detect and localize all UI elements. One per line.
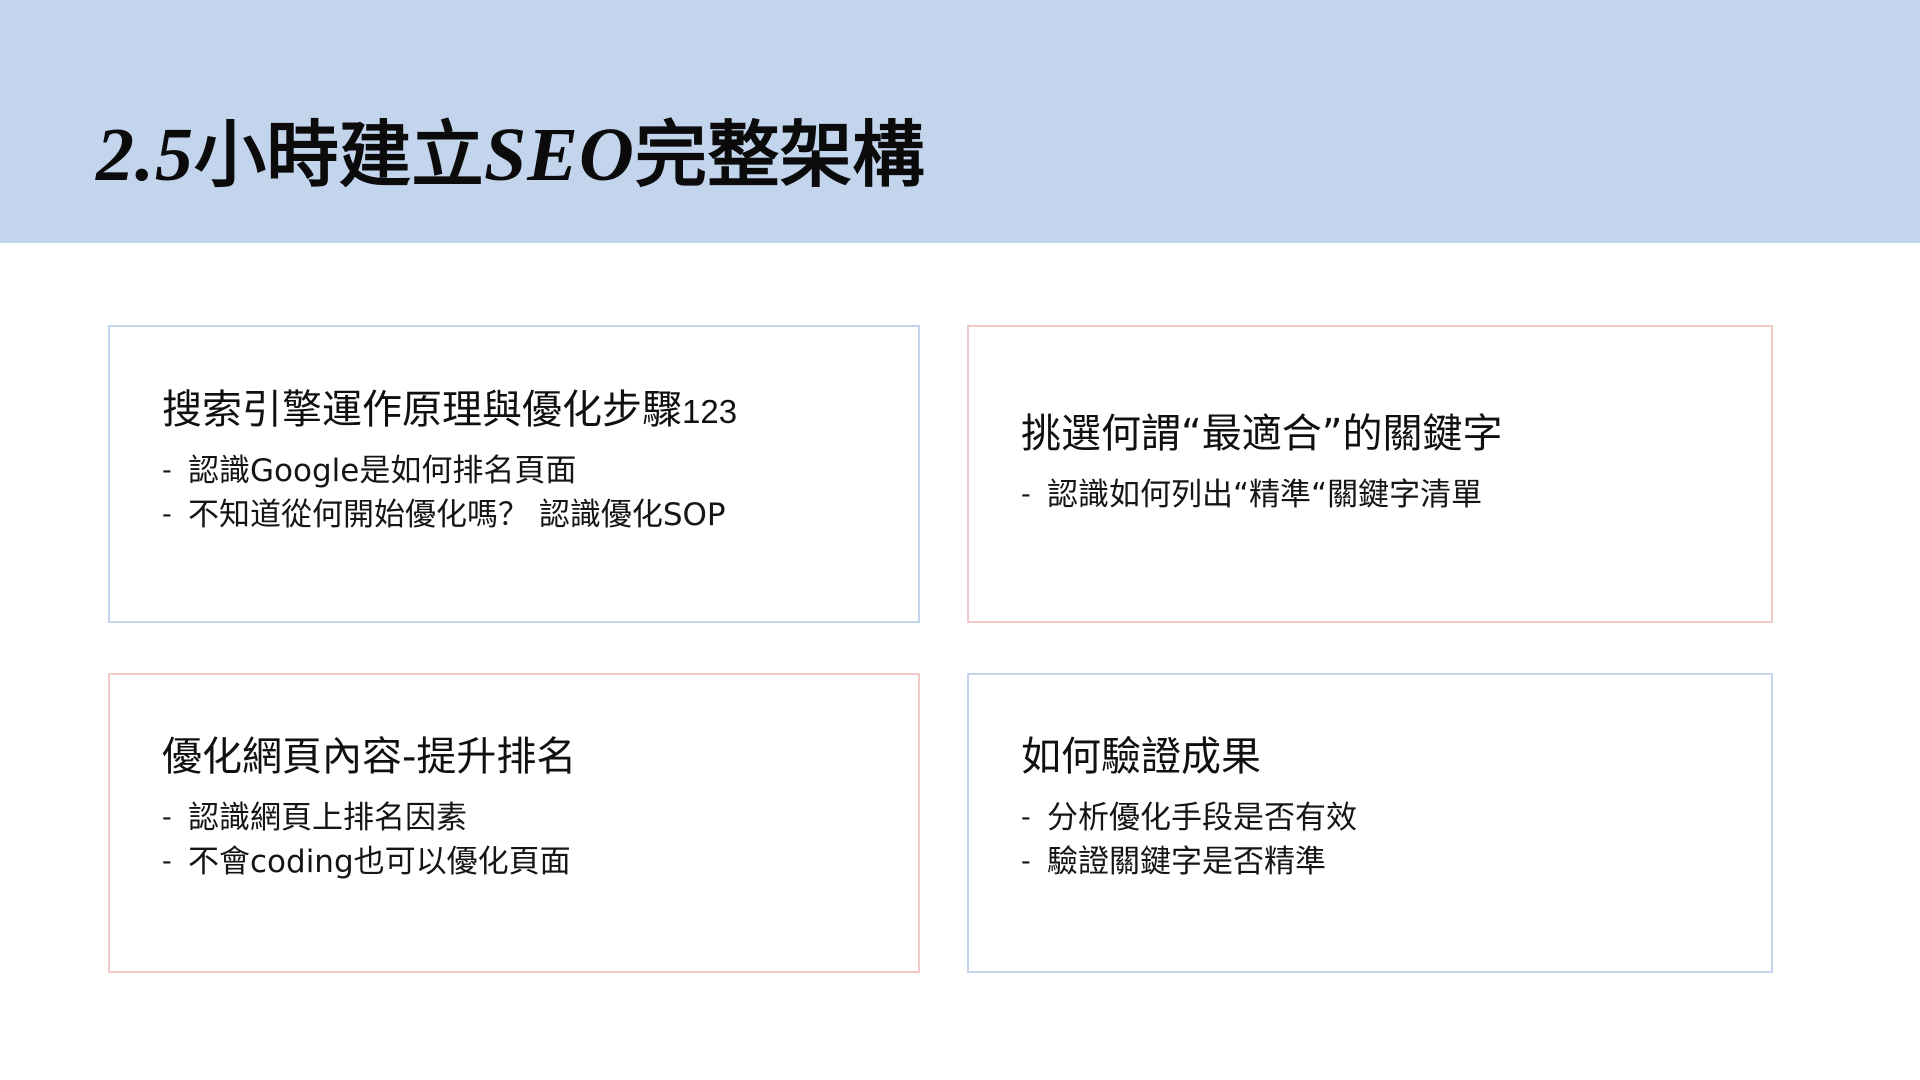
card-grid: 搜索引擎運作原理與優化步驟123 -認識Google是如何排名頁面 -不知道從何… — [0, 0, 1920, 1080]
card-search-engine-principles[interactable]: 搜索引擎運作原理與優化步驟123 -認識Google是如何排名頁面 -不知道從何… — [108, 325, 920, 623]
card-verify-results[interactable]: 如何驗證成果 -分析優化手段是否有效 -驗證關鍵字是否精準 — [967, 673, 1773, 973]
card-optimize-page-content[interactable]: 優化網頁內容-提升排名 -認識網頁上排名因素 -不會coding也可以優化頁面 — [108, 673, 920, 973]
list-item: -驗證關鍵字是否精準 — [1021, 840, 1747, 884]
card-4-bullet-list: -分析優化手段是否有效 -驗證關鍵字是否精準 — [1021, 796, 1747, 884]
bullet-marker-icon: - — [1021, 843, 1047, 881]
card-choose-best-keywords[interactable]: 挑選何謂“最適合”的關鍵字 -認識如何列出“精準“關鍵字清單 — [967, 325, 1773, 623]
card-1-bullet-list: -認識Google是如何排名頁面 -不知道從何開始優化嗎？ 認識優化SOP — [162, 449, 894, 537]
list-item-label: 分析優化手段是否有效 — [1047, 800, 1357, 836]
list-item-label: 認識如何列出“精準“關鍵字清單 — [1047, 477, 1482, 513]
bullet-marker-icon: - — [162, 799, 188, 837]
bullet-marker-icon: - — [162, 452, 188, 490]
card-1-heading-suffix: 123 — [682, 393, 737, 430]
list-item-label: 不會coding也可以優化頁面 — [188, 844, 571, 880]
card-4-heading-text: 如何驗證成果 — [1021, 734, 1261, 780]
list-item-label: 認識網頁上排名因素 — [188, 800, 467, 836]
card-3-heading: 優化網頁內容-提升排名 — [162, 732, 894, 782]
list-item-label: 不知道從何開始優化嗎？ 認識優化SOP — [188, 497, 726, 533]
card-1-heading: 搜索引擎運作原理與優化步驟123 — [162, 385, 894, 435]
card-2-heading: 挑選何謂“最適合”的關鍵字 — [1021, 409, 1747, 459]
list-item: -分析優化手段是否有效 — [1021, 796, 1747, 840]
list-item: -不知道從何開始優化嗎？ 認識優化SOP — [162, 493, 894, 537]
list-item-label: 認識Google是如何排名頁面 — [188, 453, 576, 489]
list-item-label: 驗證關鍵字是否精準 — [1047, 844, 1326, 880]
bullet-marker-icon: - — [1021, 799, 1047, 837]
list-item: -認識如何列出“精準“關鍵字清單 — [1021, 473, 1747, 517]
list-item: -認識網頁上排名因素 — [162, 796, 894, 840]
bullet-marker-icon: - — [1021, 476, 1047, 514]
card-3-bullet-list: -認識網頁上排名因素 -不會coding也可以優化頁面 — [162, 796, 894, 884]
card-1-heading-text: 搜索引擎運作原理與優化步驟 — [162, 387, 682, 433]
card-4-heading: 如何驗證成果 — [1021, 732, 1747, 782]
list-item: -不會coding也可以優化頁面 — [162, 840, 894, 884]
bullet-marker-icon: - — [162, 496, 188, 534]
card-3-heading-text: 優化網頁內容-提升排名 — [162, 734, 576, 780]
card-2-bullet-list: -認識如何列出“精準“關鍵字清單 — [1021, 473, 1747, 517]
card-2-heading-text: 挑選何謂“最適合”的關鍵字 — [1021, 411, 1502, 457]
list-item: -認識Google是如何排名頁面 — [162, 449, 894, 493]
bullet-marker-icon: - — [162, 843, 188, 881]
